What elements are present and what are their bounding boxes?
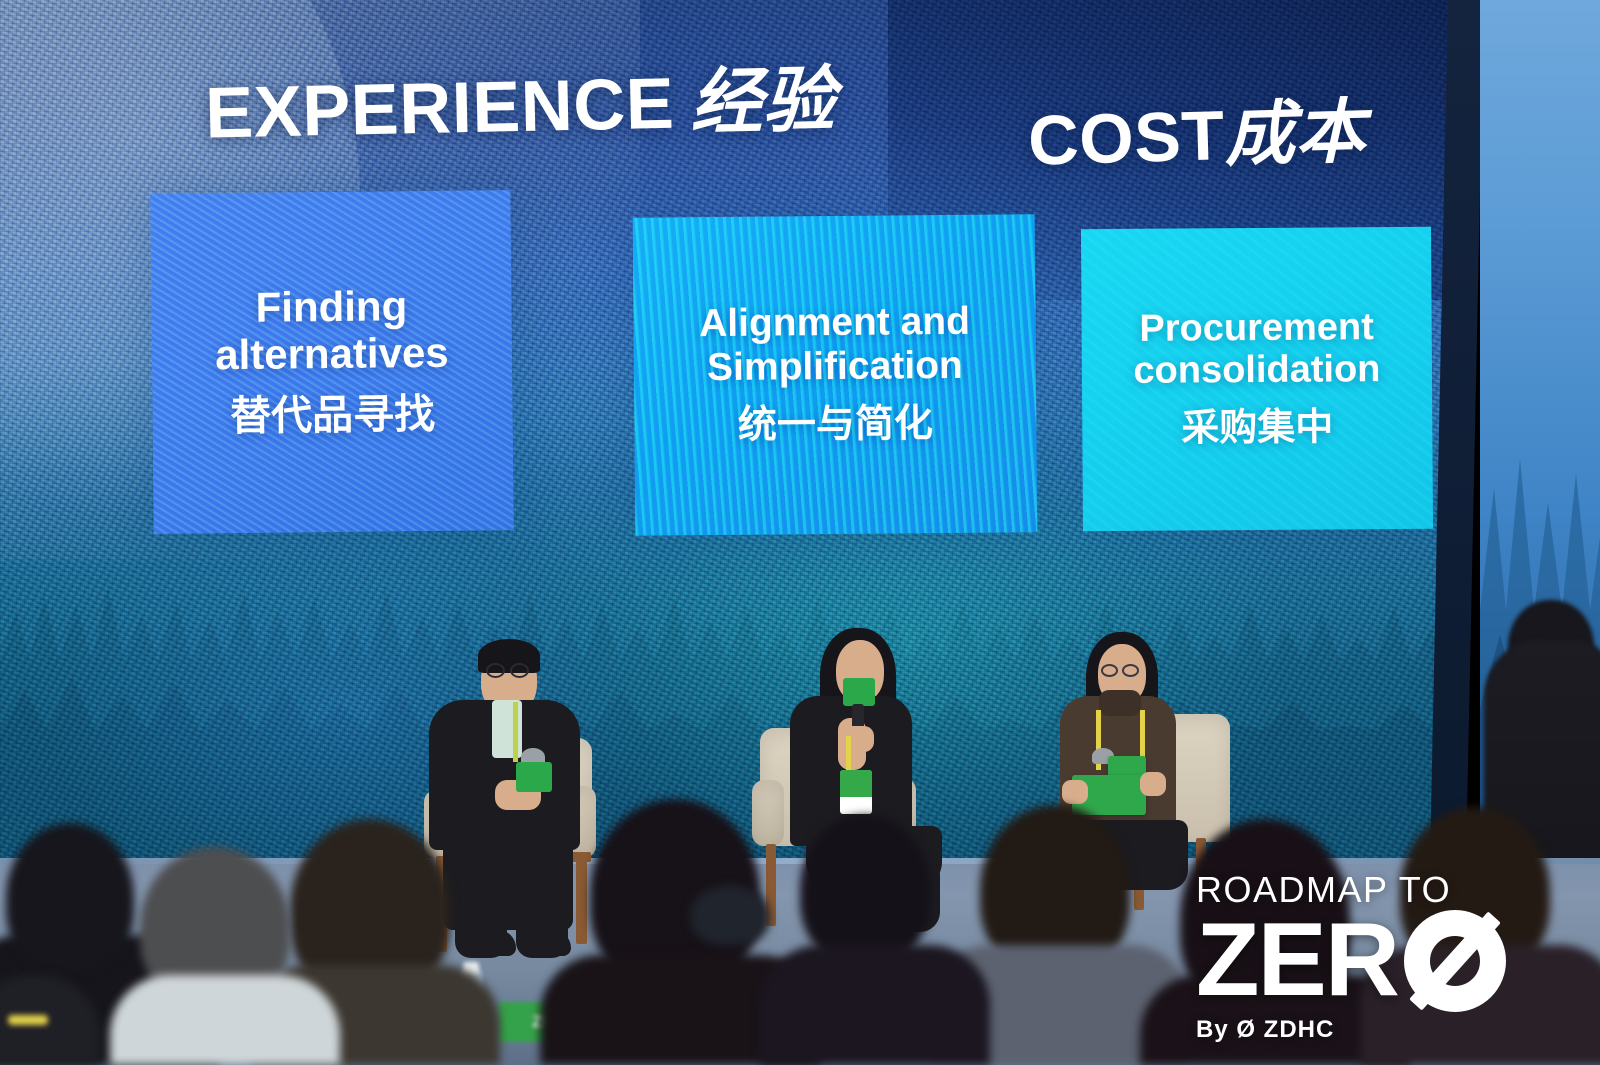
glasses-icon xyxy=(486,663,505,678)
name-badge xyxy=(840,770,872,814)
glasses-icon xyxy=(510,663,529,678)
panelist-right-turtleneck xyxy=(1099,690,1141,716)
panel-2-cn: 统一与简化 xyxy=(738,401,933,449)
roadmap-to-zero-logo: ROADMAP TO ZER By Ø ZDHC xyxy=(1196,872,1556,1044)
panel-1-en-line2: alternatives xyxy=(215,329,449,378)
heading-experience-cn: 经验 xyxy=(689,60,836,143)
panel-3-en-line1: Procurement xyxy=(1139,306,1374,350)
glasses-icon xyxy=(1122,664,1139,677)
crossed-zero-icon xyxy=(1404,910,1506,1012)
chair-leg xyxy=(576,852,587,944)
logo-line-2: ZER xyxy=(1196,910,1556,1012)
heading-experience: EXPERIENCE经验 xyxy=(204,40,836,158)
badge-header xyxy=(840,770,872,797)
audience-head xyxy=(690,885,770,945)
glasses-icon xyxy=(1101,664,1118,677)
lanyard xyxy=(846,736,851,772)
heading-cost-en: COST xyxy=(1027,96,1226,179)
heading-experience-en: EXPERIENCE xyxy=(204,64,675,154)
screenshot-root: EXPERIENCE经验 COST成本 Finding alternatives… xyxy=(0,0,1600,1065)
audience-head xyxy=(6,823,134,973)
audience-shoulders xyxy=(760,945,990,1065)
logo-zero-text: ZER xyxy=(1196,912,1398,1010)
audience-head xyxy=(800,815,930,965)
slide-panel-alignment-simplification: Alignment and Simplification 统一与简化 xyxy=(633,214,1038,535)
chair-arm-left xyxy=(752,780,784,846)
heading-cost-cn: 成本 xyxy=(1224,92,1367,174)
panelist-right-hand xyxy=(1062,780,1088,804)
audience-lanyard xyxy=(8,1015,48,1025)
panelist-right-hand xyxy=(1140,772,1166,796)
heading-cost: COST成本 xyxy=(1027,75,1367,185)
panel-2-en-line2: Simplification xyxy=(707,343,963,389)
panel-1-cn: 替代品寻找 xyxy=(230,390,436,441)
slide-panel-finding-alternatives: Finding alternatives 替代品寻找 xyxy=(150,190,514,534)
audience-shoulders xyxy=(110,975,340,1065)
slide-panel-procurement-consolidation: Procurement consolidation 采购集中 xyxy=(1081,227,1433,531)
panel-3-cn: 采购集中 xyxy=(1181,405,1333,452)
panel-1-en-line1: Finding xyxy=(255,283,407,332)
panel-2-en-line1: Alignment and xyxy=(699,300,970,346)
microphone-flag xyxy=(516,762,552,792)
microphone-flag xyxy=(843,678,875,706)
logo-line-3: By Ø ZDHC xyxy=(1196,1016,1556,1044)
panel-3-en-line2: consolidation xyxy=(1133,348,1380,392)
panelist-left-shoe xyxy=(525,930,571,956)
panelist-left-shoe xyxy=(470,930,516,956)
lanyard xyxy=(513,702,518,762)
